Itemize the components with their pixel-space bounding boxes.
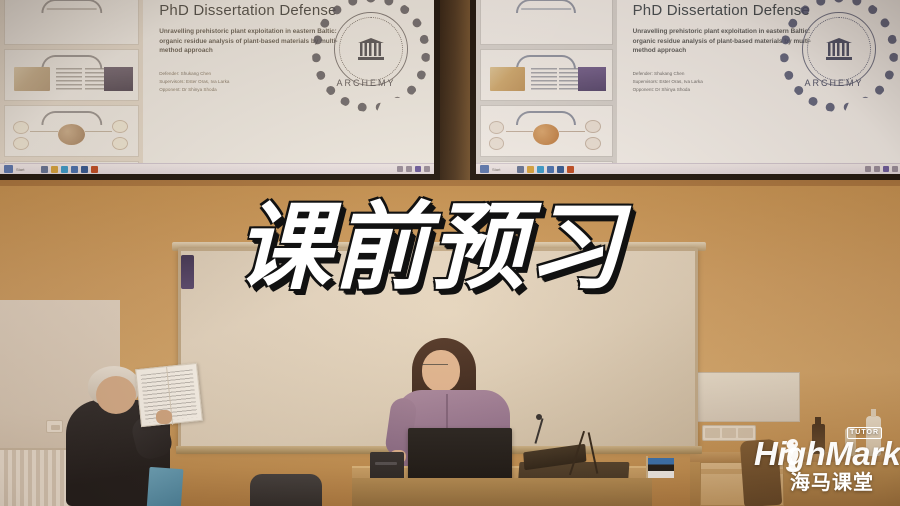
glasses-icon: [422, 364, 448, 370]
microphone-icon: [536, 414, 542, 420]
chair: [250, 474, 322, 506]
headline-overlay: 课前预习: [236, 188, 666, 308]
watermark-chinese: 海马课堂: [790, 466, 874, 495]
watermark-badge: TUTOR: [847, 427, 882, 439]
desk-front-panel: [352, 478, 652, 506]
attendee-man-reading-booklet: [60, 360, 180, 506]
watermark-logo: HighMark TUTOR 海马课堂: [738, 436, 898, 502]
folder: [147, 467, 184, 506]
screenshot-root: ARCHEMY PhD Dissertation Defense Unravel…: [0, 0, 900, 506]
wall-between-screens: [440, 0, 474, 180]
projection-screen-right: ARCHEMY PhD Dissertation Defense Unravel…: [470, 0, 900, 180]
screen-bezel-right: [470, 0, 900, 180]
marker-holder: [181, 255, 194, 289]
projection-screen-left: ARCHEMY PhD Dissertation Defense Unravel…: [0, 0, 440, 180]
screen-bezel-left: [0, 0, 440, 180]
estonian-flag: [648, 458, 674, 478]
wall-panel-right: [690, 372, 800, 422]
